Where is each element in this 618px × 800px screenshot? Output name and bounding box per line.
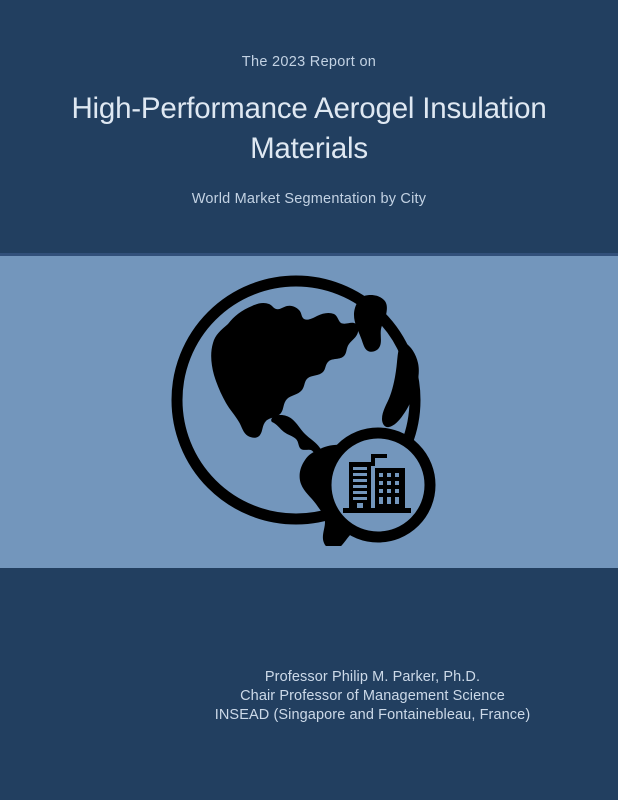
author-name: Professor Philip M. Parker, Ph.D. xyxy=(200,668,545,687)
author-block: Professor Philip M. Parker, Ph.D. Chair … xyxy=(200,668,545,725)
page-title: High-Performance Aerogel Insulation Mate… xyxy=(0,89,618,169)
cover-artwork xyxy=(168,272,440,546)
book-cover: The 2023 Report on High-Performance Aero… xyxy=(0,0,618,800)
page-subtitle: World Market Segmentation by City xyxy=(0,189,618,209)
author-affiliation: INSEAD (Singapore and Fontainebleau, Fra… xyxy=(200,706,545,725)
author-title: Chair Professor of Management Science xyxy=(200,687,545,706)
title-block: The 2023 Report on High-Performance Aero… xyxy=(0,52,618,209)
report-eyebrow: The 2023 Report on xyxy=(0,52,618,72)
city-buildings-icon xyxy=(326,433,430,537)
